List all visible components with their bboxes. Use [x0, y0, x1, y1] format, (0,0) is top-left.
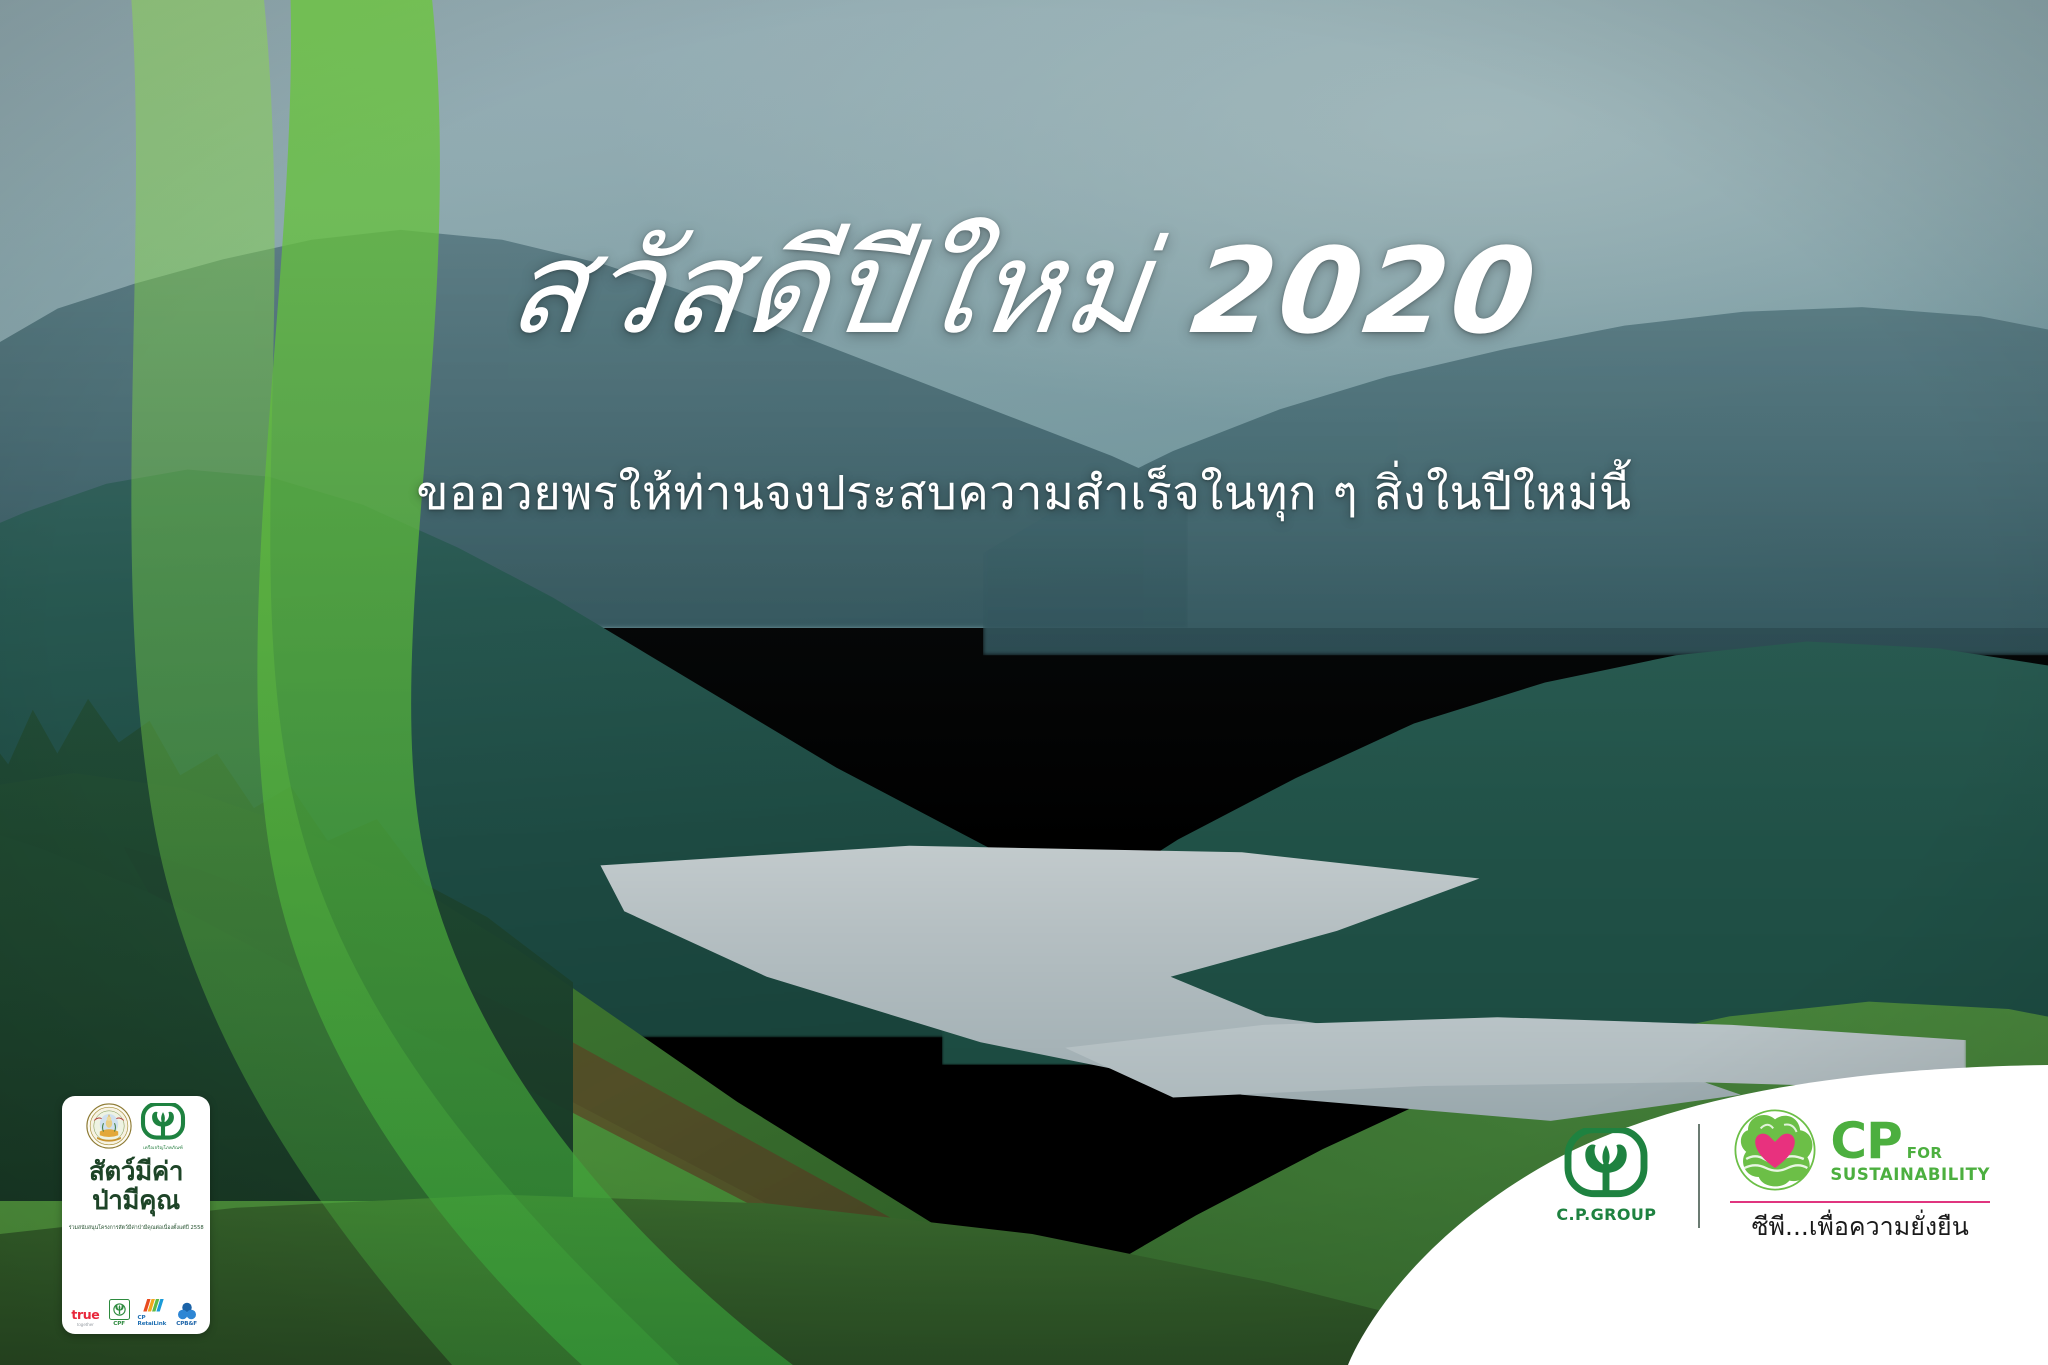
sustainability-heart-globe-icon: [1730, 1105, 1820, 1195]
cp-letters: CP: [1830, 1116, 1901, 1166]
sponsor-true-tagline: together: [77, 1322, 94, 1327]
cp-sustainability-row: CP FOR SUSTAINABILITY: [1730, 1105, 1990, 1195]
badge-fine-print: ร่วมสนับสนุนโครงการสัตว์มีค่าป่ามีคุณต่อ…: [69, 1225, 204, 1231]
cp-retailink-mark-icon: [141, 1297, 165, 1314]
sustainability-wordmark: CP FOR SUSTAINABILITY: [1830, 1116, 1990, 1184]
new-year-greeting-card: สวัสดีปีใหม่2020 ขออวยพรให้ท่านจงประสบคว…: [0, 0, 2048, 1365]
badge-sponsor-row: true together CPF: [67, 1297, 205, 1328]
headline-text: สวัสดีปีใหม่2020: [502, 222, 1547, 356]
cp-group-logo: C.P.GROUP: [1544, 1128, 1668, 1224]
greeting-subtitle-block: ขออวยพรให้ท่านจงประสบความสำเร็จในทุก ๆ ส…: [0, 455, 2048, 530]
cp-for-label: FOR: [1907, 1146, 1942, 1161]
sponsor-cpbf-name: CPB&F: [176, 1321, 197, 1327]
subtitle-text: ขออวยพรให้ท่านจงประสบความสำเร็จในทุก ๆ ส…: [416, 455, 1631, 530]
cp-sustainability-thai-tagline: ซีพี...เพื่อความยั่งยืน: [1752, 1207, 1969, 1247]
cp-tree-icon: [140, 1103, 186, 1143]
sponsor-cpbf-logo: CPB&F: [171, 1297, 202, 1327]
badge-title-line1: สัตว์มีค่า: [89, 1157, 183, 1187]
badge-title: สัตว์มีค่า ป่ามีคุณ: [89, 1158, 183, 1216]
sustainability-pink-rule: [1730, 1201, 1990, 1203]
headline-year: 2020: [1185, 222, 1546, 360]
cpf-shield-icon: [109, 1299, 130, 1320]
cp-group-mark-small: เครือเจริญโภคภัณฑ์: [140, 1103, 186, 1153]
cp-group-wordmark: C.P.GROUP: [1556, 1205, 1656, 1224]
cp-footer-logos: C.P.GROUP CP FOR: [1544, 1105, 1990, 1247]
sponsor-cpretailink-logo: CP RetaiLink: [138, 1297, 169, 1327]
cpbf-petals-icon: [177, 1302, 197, 1320]
cpf-emblem-icon: [112, 1302, 127, 1317]
badge-logo-row: เครือเจริญโภคภัณฑ์: [67, 1103, 205, 1153]
cp-sustainability-label: SUSTAINABILITY: [1830, 1167, 1990, 1184]
headline-thai: สวัสดีปีใหม่: [501, 214, 1159, 363]
dnp-seal-icon: [86, 1103, 132, 1149]
cp-for-sustainability-logo: CP FOR SUSTAINABILITY ซีพี...เพื่อความยั…: [1730, 1105, 1990, 1247]
badge-title-line2: ป่ามีคุณ: [89, 1187, 183, 1216]
footer-logo-divider: [1698, 1124, 1700, 1228]
cp-big-letters: CP FOR: [1830, 1116, 1942, 1166]
sponsor-true-logo: true together: [70, 1297, 101, 1327]
sponsor-cpf-logo: CPF: [104, 1297, 135, 1327]
cp-thai-subtitle-small: เครือเจริญโภคภัณฑ์: [143, 1144, 183, 1151]
campaign-badge: เครือเจริญโภคภัณฑ์ สัตว์มีค่า ป่ามีคุณ ร…: [62, 1096, 210, 1334]
cp-group-tree-icon: [1562, 1128, 1650, 1204]
sponsor-cpretailink-name: CP RetaiLink: [138, 1315, 169, 1327]
sponsor-true-name: true: [71, 1309, 99, 1322]
sponsor-cpf-name: CPF: [113, 1321, 125, 1327]
greeting-headline-block: สวัสดีปีใหม่2020: [0, 222, 2048, 356]
